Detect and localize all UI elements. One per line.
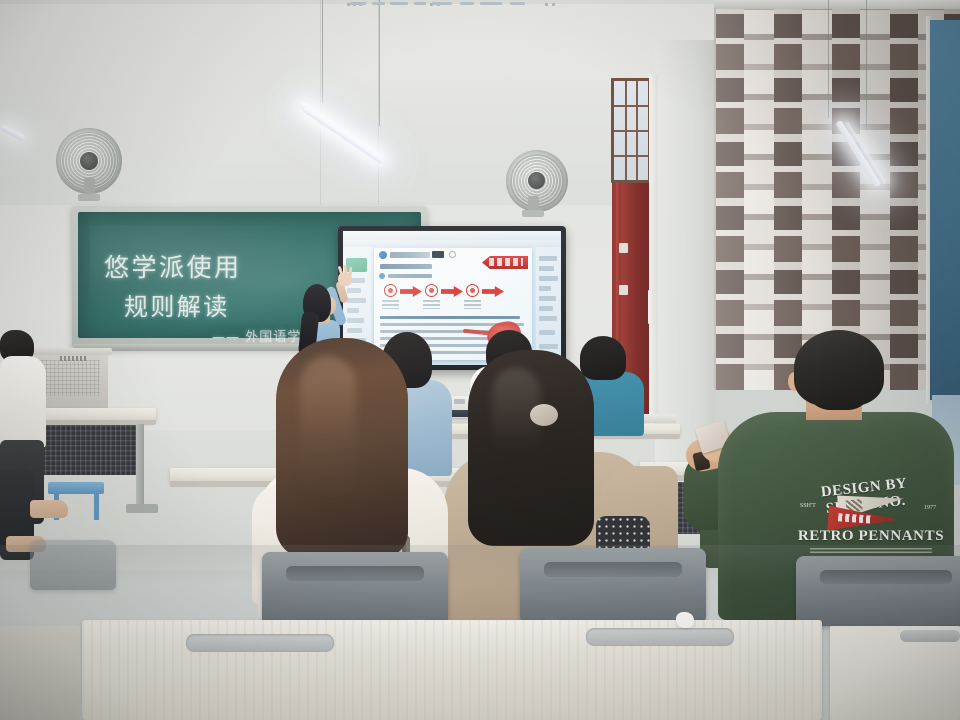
document-ribbon[interactable] (343, 240, 561, 247)
flow-step-3-icon (466, 284, 479, 297)
curtain-rod (714, 0, 960, 9)
shirt-print-bottom: RETRO PENNANTS (796, 528, 946, 545)
door-plate (619, 285, 628, 295)
desk-modesty-panel (30, 425, 140, 475)
flow-step-3-caption (464, 300, 481, 309)
teacher-finger (349, 267, 353, 276)
brand-wordmark (390, 252, 430, 258)
door-jamb (649, 74, 658, 426)
projector-lens (454, 399, 465, 404)
blackboard-signature: —— 外国语学 (212, 326, 301, 345)
light-suspension-wire (379, 0, 380, 126)
student-g-hair (794, 330, 884, 406)
desk-foot (126, 504, 158, 513)
blackboard-line-1: 悠学派使用 (104, 248, 242, 284)
classroom-photo: 悠学派使用 规则解读 —— 外国语学 (0, 0, 960, 720)
chair-handle-slot (820, 570, 952, 584)
desk-handle-recess[interactable] (186, 634, 334, 652)
stool-leg (94, 492, 99, 520)
student-b-hair-tie (530, 404, 558, 426)
student-a-hair-highlight (300, 356, 356, 506)
student-f-body (0, 356, 46, 448)
right-window (930, 20, 960, 400)
door-plate (619, 243, 628, 253)
document-heading (380, 264, 432, 269)
desk-handle-recess[interactable] (586, 628, 734, 646)
student-chair[interactable] (520, 548, 706, 622)
door-push-plate[interactable] (648, 290, 655, 324)
flow-step-2-caption (423, 300, 440, 309)
wall-fan-left-bracket (78, 194, 100, 201)
project-banner-text (489, 258, 523, 266)
student-b-hair-highlight (492, 368, 540, 488)
student-e-hair (580, 336, 626, 380)
chair-handle-slot (286, 566, 424, 581)
vr-badge-icon (432, 251, 444, 258)
student-chair[interactable] (796, 556, 960, 626)
document-body-line (380, 316, 520, 319)
flow-step-1-icon (384, 284, 397, 297)
transom-window (614, 81, 648, 180)
crumpled-tissue (676, 612, 694, 628)
brand-logo-icon (379, 251, 387, 259)
document-toolbar[interactable] (343, 231, 561, 240)
ceiling-panel-joint (320, 0, 321, 215)
bullet-icon (379, 273, 385, 279)
student-f-foot (30, 500, 68, 518)
shirt-print-small-left: SSH'T (800, 503, 816, 509)
foreground-desk-left (0, 626, 80, 720)
chair-handle-slot (544, 562, 682, 577)
light-suspension-wire (828, 0, 829, 118)
student-chair[interactable] (30, 540, 116, 590)
desk-handle-recess[interactable] (900, 630, 960, 642)
blackboard-line-2: 规则解读 (124, 287, 230, 322)
desk-leg (136, 424, 144, 508)
flow-step-1-caption (382, 300, 399, 309)
shirt-print-small-right: 1977 (924, 505, 936, 511)
flow-step-2-icon (425, 284, 438, 297)
student-chair[interactable] (262, 552, 448, 624)
info-circle-icon (449, 251, 456, 258)
light-suspension-wire (866, 0, 867, 130)
light-suspension-wire (322, 0, 323, 103)
document-subheading (388, 274, 432, 278)
shirt-print-fineprint (810, 548, 932, 555)
wall-fan-right-bracket (522, 210, 544, 217)
